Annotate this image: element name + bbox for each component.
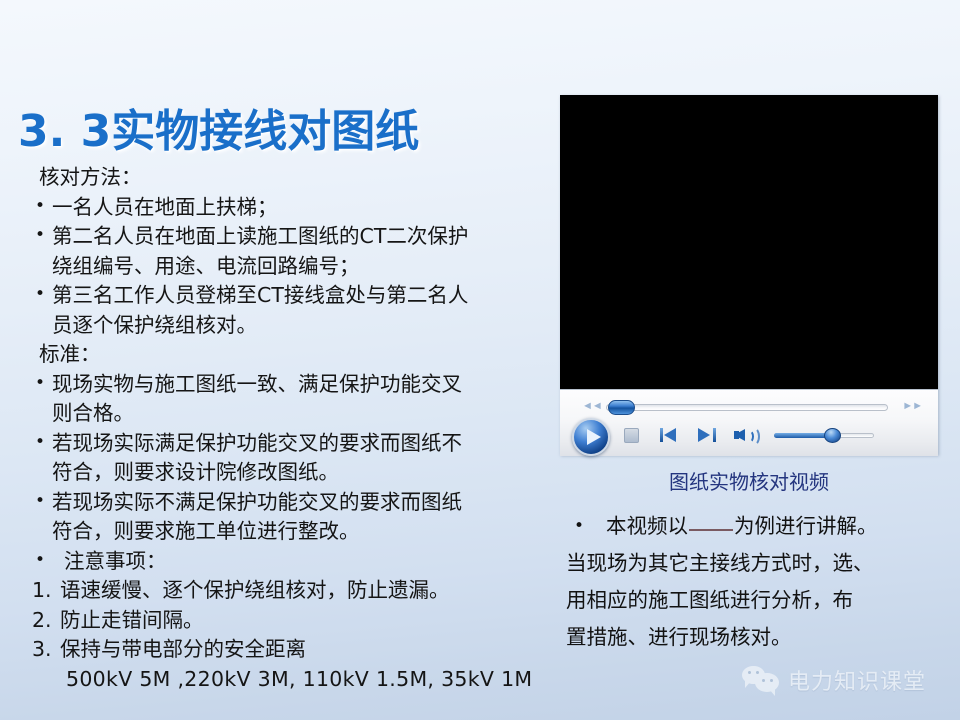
list-item-line: 第二名人员在地面上读施工图纸的CT二次保护 [52, 222, 550, 252]
item-text: 保持与带电部分的安全距离 [60, 637, 306, 661]
right-paragraph-line: 置措施、进行现场核对。 [566, 619, 946, 656]
previous-track-icon[interactable] [660, 426, 682, 444]
speaker-cone [734, 429, 745, 441]
numbered-item: 3. 保持与带电部分的安全距离 [30, 635, 550, 665]
video-screen[interactable] [560, 95, 938, 389]
seek-slider-thumb[interactable] [608, 400, 635, 415]
bullet-icon: • [35, 369, 45, 399]
prev-triangle [664, 428, 676, 442]
volume-icon[interactable] [734, 425, 760, 445]
seek-row: ◄◄ ►► [560, 396, 938, 416]
list-item: • 一名人员在地面上扶梯； [30, 193, 550, 223]
item-text: 语速缓慢、逐个保护绕组核对，防止遗漏。 [60, 578, 450, 602]
bullet-icon: • [35, 487, 45, 517]
list-item-line: 第三名工作人员登梯至CT接线盒处与第二名人 [52, 281, 550, 311]
list-item-line: 则合格。 [52, 399, 550, 429]
right-paragraph-line: 当现场为其它主接线方式时，选、 [566, 545, 946, 582]
item-number: 3. [32, 635, 52, 665]
watermark-text: 电力知识课堂 [788, 664, 926, 696]
list-item-line: 绕组编号、用途、电流回路编号； [52, 252, 550, 282]
item-number: 2. [32, 606, 52, 636]
next-bar [713, 428, 716, 442]
bullet-icon: • [574, 508, 584, 545]
wechat-icon [742, 664, 782, 696]
player-control-bar: ◄◄ ►► [560, 389, 938, 456]
list-item-line: 一名人员在地面上扶梯； [52, 193, 550, 223]
list-item: • 现场实物与施工图纸一致、满足保护功能交叉 则合格。 [30, 370, 550, 429]
next-triangle [698, 428, 710, 442]
fast-forward-icon[interactable]: ►► [902, 401, 922, 411]
method-heading: 核对方法： [30, 163, 550, 193]
sound-wave-outer [747, 427, 760, 446]
wechat-dot [762, 679, 765, 682]
notes-heading: • 注意事项： [30, 547, 550, 577]
text-before-blank: 本视频以 [606, 514, 688, 538]
list-item-line: 符合，则要求设计院修改图纸。 [52, 458, 550, 488]
right-paragraph-line: 用相应的施工图纸进行分析，布 [566, 582, 946, 619]
bullet-icon: • [35, 428, 45, 458]
numbered-item: 2. 防止走错间隔。 [30, 606, 550, 636]
numbered-item: 1. 语速缓慢、逐个保护绕组核对，防止遗漏。 [30, 576, 550, 606]
bullet-icon: • [35, 280, 45, 310]
list-item: • 若现场实际满足保护功能交叉的要求而图纸不 符合，则要求设计院修改图纸。 [30, 429, 550, 488]
play-button[interactable] [572, 418, 610, 456]
bullet-icon: • [35, 546, 45, 576]
next-track-icon[interactable] [696, 426, 718, 444]
wechat-dot [770, 679, 773, 682]
slide-canvas: 3. 3实物接线对图纸 核对方法： • 一名人员在地面上扶梯； • 第二名人员在… [0, 0, 960, 720]
video-caption: 图纸实物核对视频 [560, 466, 938, 495]
wechat-dot [756, 671, 759, 674]
seek-slider-track[interactable] [606, 404, 888, 411]
notes-heading-label: 注意事项： [52, 549, 167, 573]
wechat-dot [748, 671, 751, 674]
list-item: • 若现场实际不满足保护功能交叉的要求而图纸 符合，则要求施工单位进行整改。 [30, 488, 550, 547]
fill-in-blank [689, 529, 733, 531]
video-player[interactable]: ◄◄ ►► [560, 95, 938, 455]
clearance-values: 500kV 5M ,220kV 3M, 110kV 1.5M, 35kV 1M [30, 665, 550, 695]
stop-button[interactable] [624, 428, 639, 443]
right-content-column: • 本视频以为例进行讲解。 当现场为其它主接线方式时，选、 用相应的施工图纸进行… [566, 508, 946, 656]
rewind-icon[interactable]: ◄◄ [582, 401, 602, 411]
list-item-line: 若现场实际不满足保护功能交叉的要求而图纸 [52, 488, 550, 518]
player-buttons-row [560, 416, 938, 456]
standard-heading: 标准： [30, 340, 550, 370]
volume-slider-thumb[interactable] [824, 428, 841, 443]
text-after-blank: 为例进行讲解。 [734, 514, 878, 538]
list-item: • 第三名工作人员登梯至CT接线盒处与第二名人 员逐个保护绕组核对。 [30, 281, 550, 340]
list-item-line: 符合，则要求施工单位进行整改。 [52, 517, 550, 547]
list-item: • 第二名人员在地面上读施工图纸的CT二次保护 绕组编号、用途、电流回路编号； [30, 222, 550, 281]
right-first-line: • 本视频以为例进行讲解。 [566, 508, 946, 545]
list-item-line: 员逐个保护绕组核对。 [52, 311, 550, 341]
watermark: 电力知识课堂 [742, 664, 926, 696]
left-content-column: 核对方法： • 一名人员在地面上扶梯； • 第二名人员在地面上读施工图纸的CT二… [30, 163, 550, 694]
prev-bar [660, 428, 663, 442]
bullet-icon: • [35, 221, 45, 251]
list-item-line: 若现场实际满足保护功能交叉的要求而图纸不 [52, 429, 550, 459]
item-number: 1. [32, 576, 52, 606]
item-text: 防止走错间隔。 [60, 608, 204, 632]
wechat-bubble-front [755, 673, 779, 692]
page-title: 3. 3实物接线对图纸 [18, 95, 419, 159]
list-item-line: 现场实物与施工图纸一致、满足保护功能交叉 [52, 370, 550, 400]
bullet-icon: • [35, 192, 45, 222]
